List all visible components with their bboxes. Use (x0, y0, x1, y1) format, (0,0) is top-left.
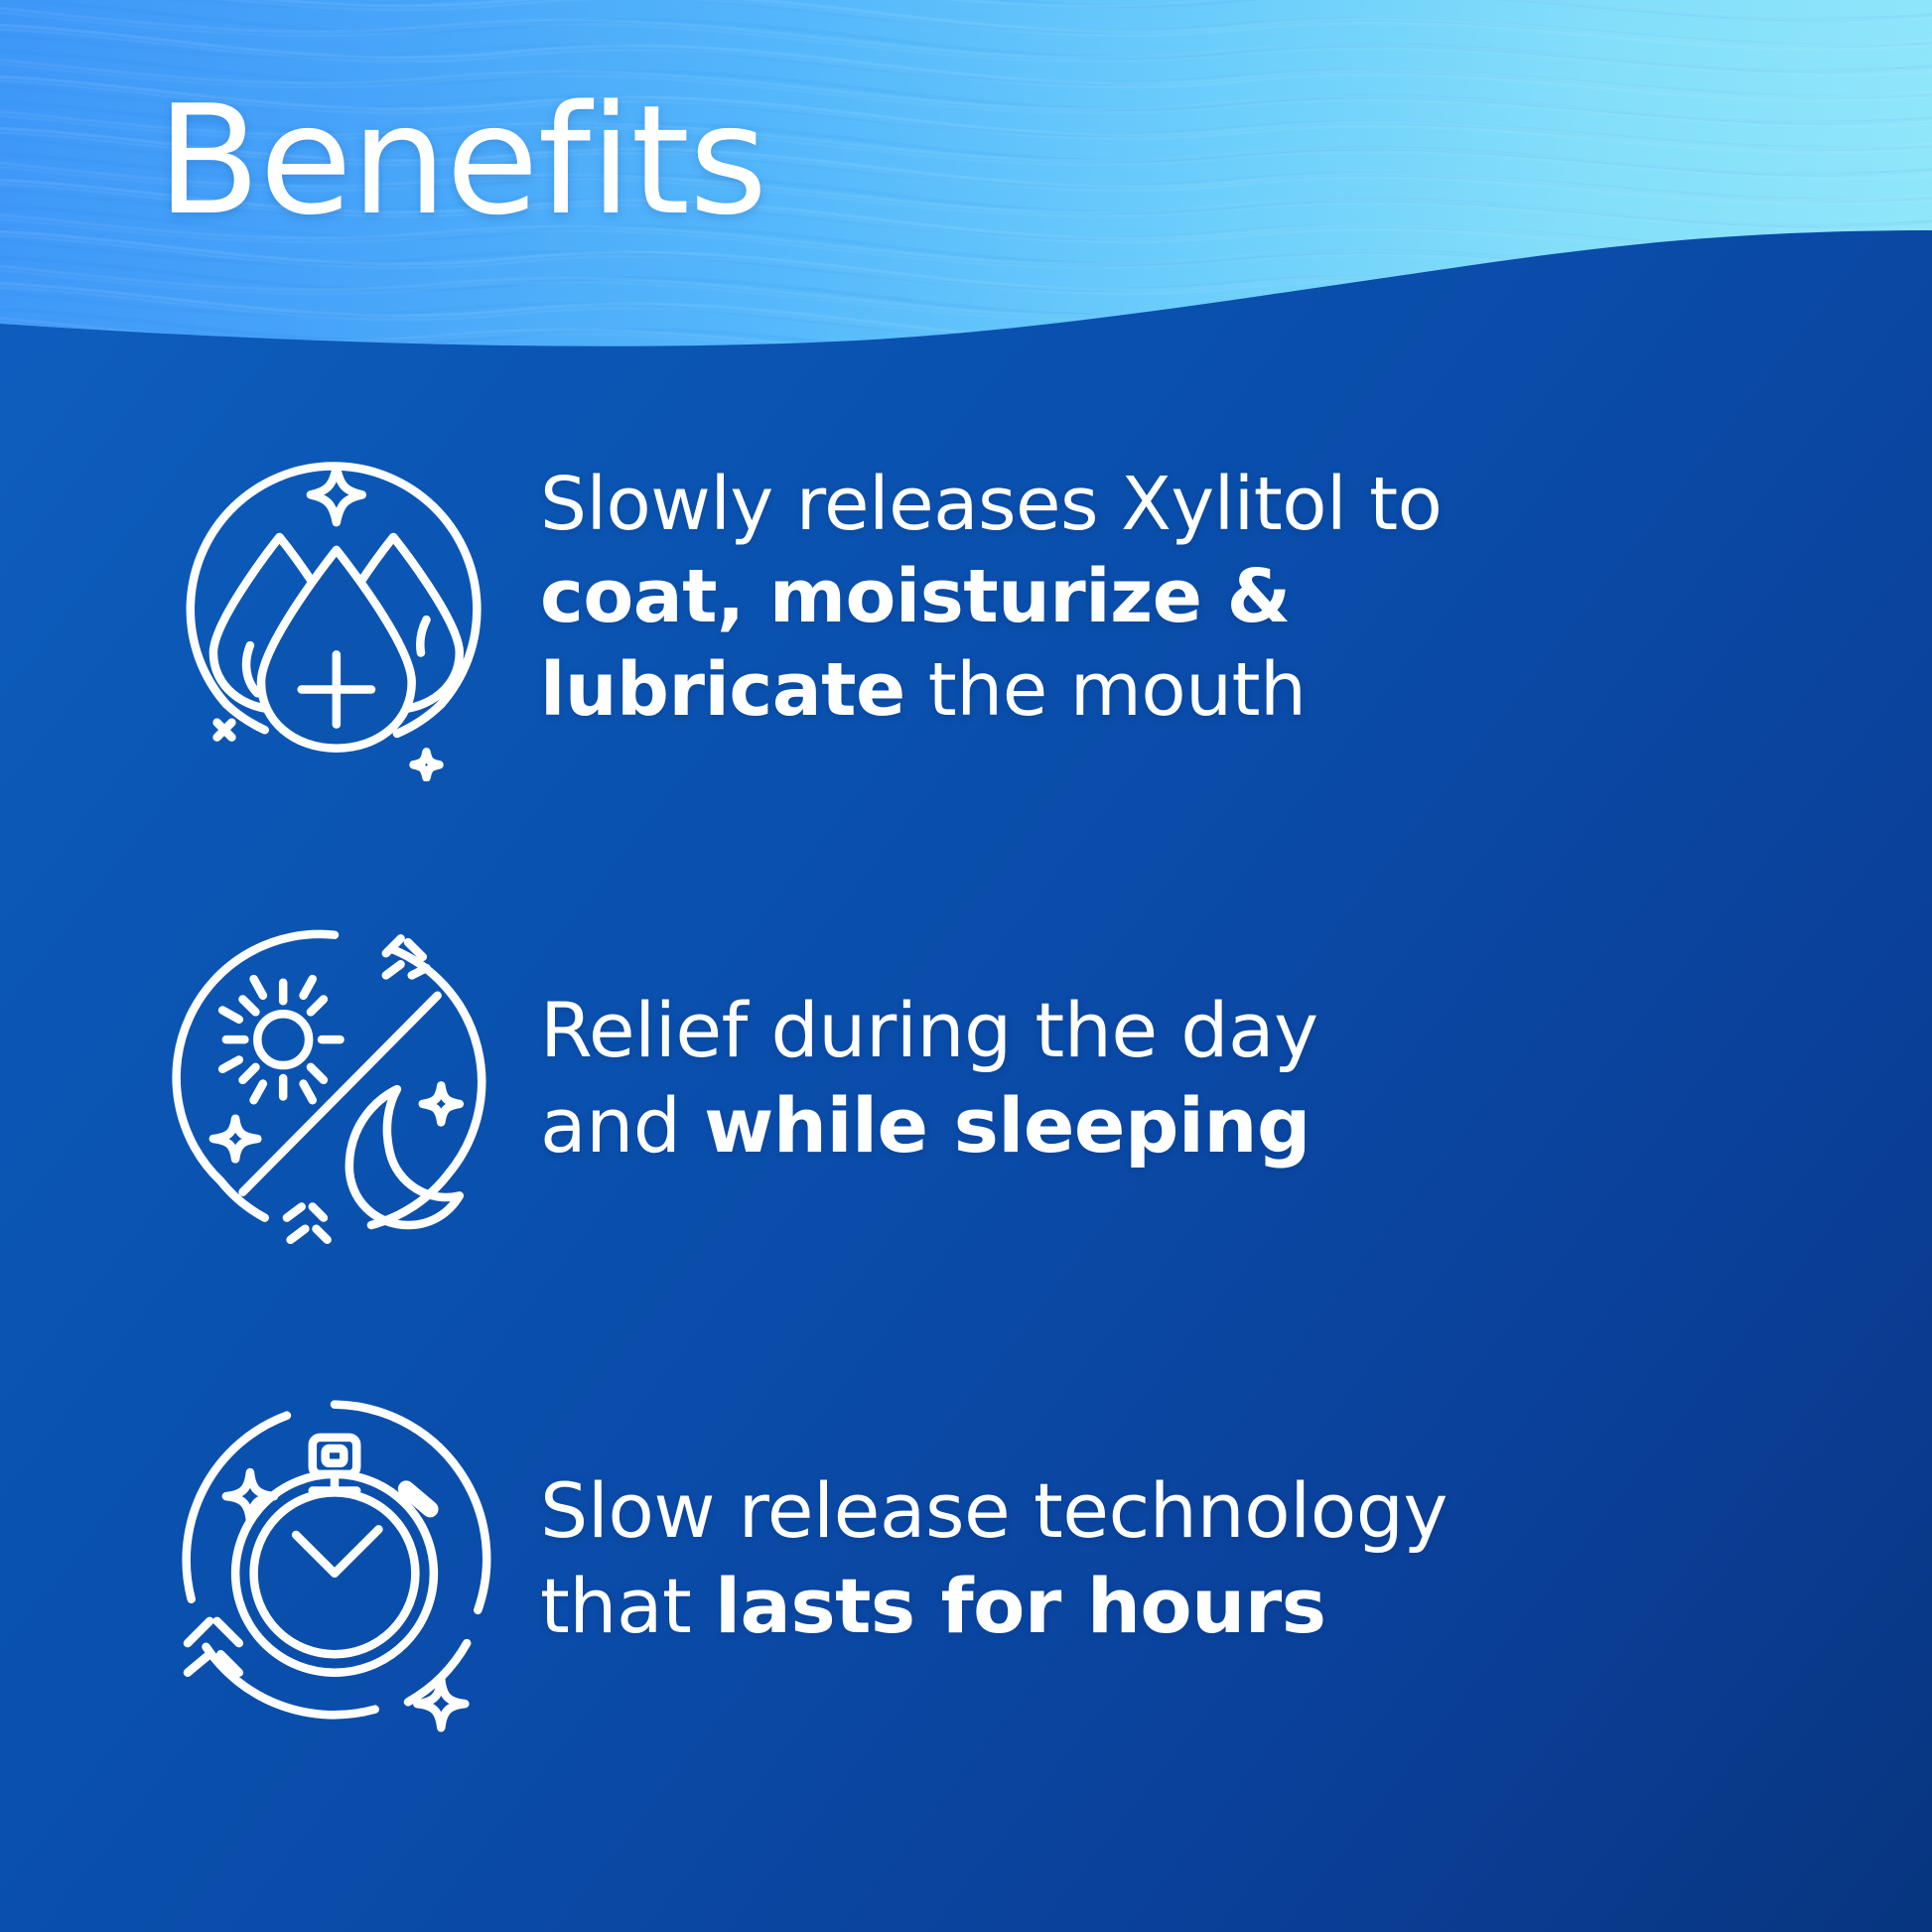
benefit-3-line-2-bold: lasts for hours (715, 1562, 1325, 1650)
benefit-item-3: Slow release technology that lasts for h… (0, 1366, 1932, 1751)
benefit-list: Slowly releases Xylitol to coat, moistur… (0, 405, 1932, 1847)
benefit-text-1: Slowly releases Xylitol to coat, moistur… (518, 459, 1932, 737)
benefit-text-3: Slow release technology that lasts for h… (518, 1463, 1932, 1654)
sun-moon-day-night-icon (151, 895, 518, 1262)
benefit-item-1: Slowly releases Xylitol to coat, moistur… (0, 405, 1932, 790)
benefit-3-line-2-pre: that (540, 1562, 715, 1650)
header-band: Benefits (0, 0, 1932, 417)
benefit-1-line-3-rest: the mouth (905, 647, 1307, 733)
benefit-1-line-3-bold: lubricate (540, 647, 905, 733)
stopwatch-icon (151, 1375, 518, 1742)
benefit-1-line-2: coat, moisturize & (540, 554, 1291, 639)
water-droplets-plus-icon (151, 414, 518, 781)
benefit-2-line-2-pre: and (540, 1081, 704, 1170)
benefit-3-line-1: Slow release technology (540, 1466, 1448, 1555)
benefit-2-line-2-bold: while sleeping (704, 1081, 1311, 1170)
benefit-1-line-1: Slowly releases Xylitol to (540, 462, 1442, 547)
poster-canvas: Benefits (0, 0, 1932, 1932)
page-title: Benefits (157, 85, 766, 236)
benefit-text-2: Relief during the day and while sleeping (518, 983, 1932, 1173)
benefit-item-2: Relief during the day and while sleeping (0, 886, 1932, 1271)
benefit-2-line-1: Relief during the day (540, 986, 1318, 1074)
